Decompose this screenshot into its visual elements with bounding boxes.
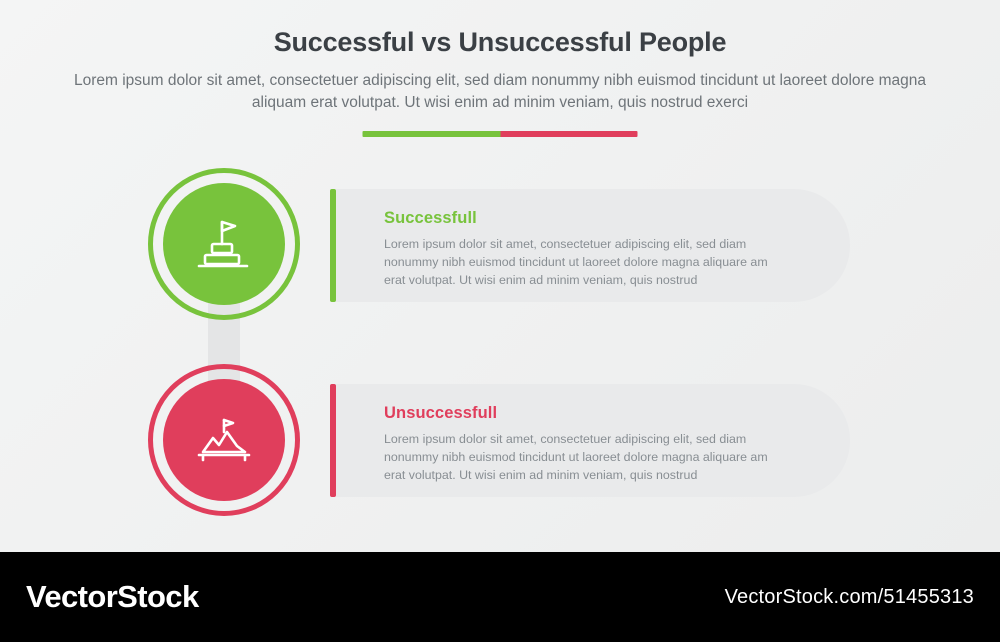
diagram-stage: Successful vs Unsuccessful People Lorem …: [0, 0, 1000, 552]
page-title: Successful vs Unsuccessful People: [0, 27, 1000, 58]
watermark-footer: VectorStock VectorStock.com/51455313: [0, 552, 1000, 642]
infographic-canvas: Successful vs Unsuccessful People Lorem …: [0, 0, 1000, 642]
footer-url: VectorStock.com/51455313: [725, 586, 974, 609]
heading-successfull: Successfull: [384, 209, 477, 228]
title-underline: [363, 131, 638, 137]
heading-unsuccessfull: Unsuccessfull: [384, 404, 497, 423]
description-unsuccessfull: Lorem ipsum dolor sit amet, consectetuer…: [384, 430, 776, 484]
flag-on-podium-icon: [191, 214, 257, 274]
underline-left-half: [363, 131, 501, 137]
description-successfull: Lorem ipsum dolor sit amet, consectetuer…: [384, 235, 776, 289]
accent-bar-successfull: [330, 189, 336, 302]
mountain-climb-icon: [191, 410, 257, 470]
brand-logo: VectorStock: [26, 579, 199, 615]
node-disc-unsuccessfull[interactable]: [163, 379, 285, 501]
node-disc-successfull[interactable]: [163, 183, 285, 305]
accent-bar-unsuccessfull: [330, 384, 336, 497]
page-subtitle: Lorem ipsum dolor sit amet, consectetuer…: [65, 70, 935, 114]
underline-right-half: [500, 131, 638, 137]
